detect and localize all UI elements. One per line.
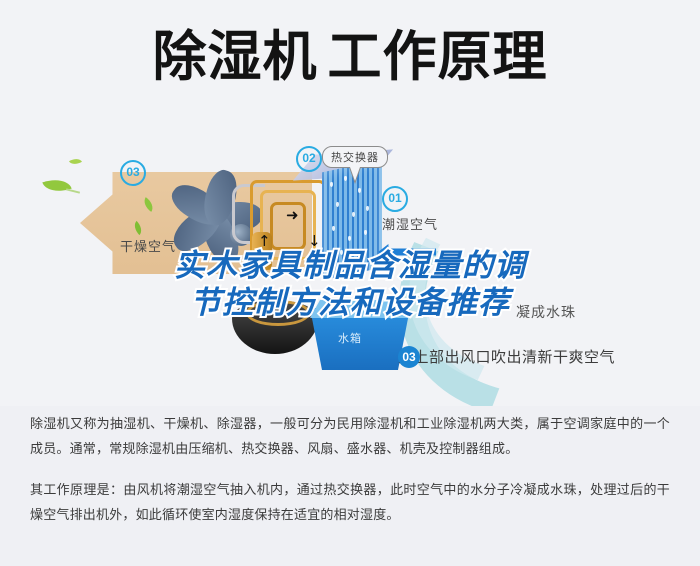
- hero-illustration: 除湿机工作原理 干燥空气 ➜ ↑: [0, 0, 700, 406]
- page-title-part2: 工作原理: [328, 25, 548, 88]
- heat-exchanger-callout: 热交换器: [322, 146, 388, 168]
- flow-arrow-down-icon: ↓: [308, 234, 321, 249]
- step-badge-01: 01: [382, 186, 408, 212]
- leaf-icon: [42, 174, 71, 196]
- page-title-part1: 除湿机: [153, 25, 318, 88]
- condensation-droplets: [324, 172, 380, 272]
- compressor-ring: [246, 300, 310, 326]
- step-badge-03-diagram: 03: [120, 160, 146, 186]
- article-paragraph-1: 除湿机又称为抽湿机、干燥机、除湿器，一般可分为民用除湿机和工业除湿机两大类，属于…: [30, 412, 670, 462]
- water-tank-label: 水箱: [338, 330, 362, 346]
- flow-arrow-up-icon: ↑: [258, 234, 271, 249]
- refrigerant-coil-illustration: ➜ ↑ ↓: [246, 178, 334, 274]
- page-title: 除湿机工作原理: [0, 26, 700, 88]
- water-tank-top: [310, 300, 410, 318]
- infographic-page: 除湿机工作原理 干燥空气 ➜ ↑: [0, 0, 700, 566]
- leaf-icon: [69, 156, 82, 168]
- flow-arrow-right-icon: ➜: [286, 208, 299, 223]
- step-badge-03-note: 03: [398, 346, 420, 368]
- leaf-stem-icon: [66, 188, 80, 193]
- outlet-note-text: 从上部出风口吹出清新干爽空气: [398, 346, 615, 367]
- humid-air-label: 潮湿空气: [382, 214, 438, 233]
- article-paragraph-2: 其工作原理是：由风机将潮湿空气抽入机内，通过热交换器，此时空气中的水分子冷凝成水…: [30, 478, 670, 528]
- article-body: 除湿机又称为抽湿机、干燥机、除湿器，一般可分为民用除湿机和工业除湿机两大类，属于…: [0, 412, 700, 528]
- condensed-water-label: 凝成水珠: [516, 302, 576, 322]
- step-badge-02: 02: [296, 146, 322, 172]
- outlet-note: 03 从上部出风口吹出清新干爽空气: [398, 346, 615, 367]
